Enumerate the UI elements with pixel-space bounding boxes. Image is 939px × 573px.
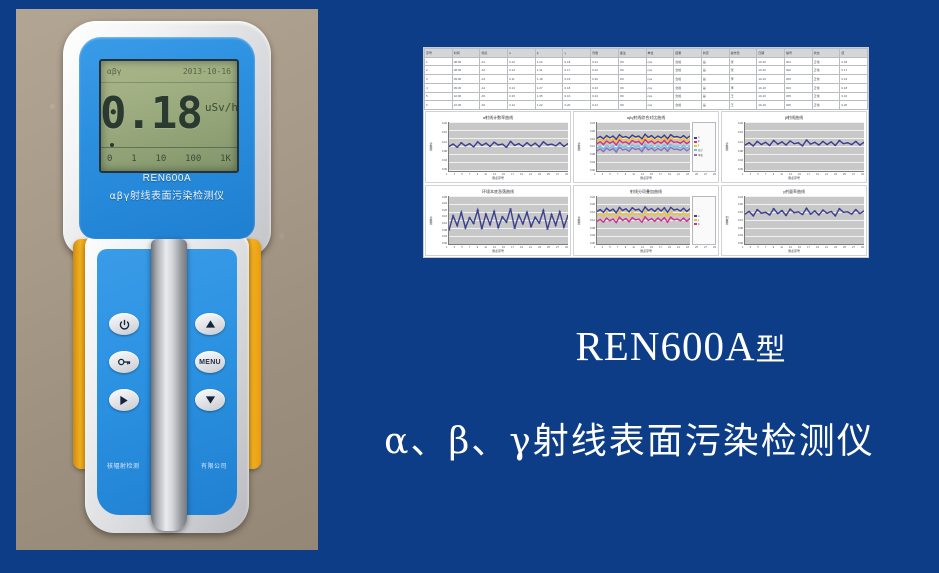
chart-y-tick: 0.00	[730, 242, 743, 245]
legend-label: β	[698, 223, 699, 226]
table-cell: A3	[480, 75, 508, 84]
product-model-text: REN600A	[575, 323, 755, 369]
table-cell: 李	[729, 75, 757, 84]
product-model-suffix: 型	[756, 333, 787, 368]
table-cell: 4	[425, 83, 453, 92]
table-cell: 0.19	[840, 75, 868, 84]
up-button[interactable]	[195, 313, 225, 335]
triangle-down-icon	[205, 395, 216, 405]
chart-y-tick: 0.04	[434, 159, 447, 162]
play-button[interactable]	[109, 389, 139, 411]
table-cell: 0.24	[591, 92, 619, 101]
table-cell: 09:00	[452, 75, 480, 84]
chart-body: 剂量率0.240.200.160.120.080.040.00	[722, 195, 866, 247]
table-cell: A5	[480, 92, 508, 101]
lcd-scale-tick: 100	[185, 154, 201, 164]
lcd-scale-tick: 0	[107, 154, 112, 164]
table-cell: cps	[646, 75, 674, 84]
chart-plot-area	[448, 196, 568, 246]
table-cell: 0.16	[563, 92, 591, 101]
table-cell: 0.22	[591, 66, 619, 75]
chart-y-ticks: 0.280.240.200.160.120.080.040.00	[434, 196, 448, 246]
chart-panel[interactable]: 环境本底涨落曲线计数率0.280.240.200.160.120.080.040…	[425, 185, 571, 257]
chart-panel[interactable]: 射线分项叠加曲线计数率0.240.200.160.120.080.040.00α…	[573, 185, 719, 257]
lcd-scale: 0 1 10 100 1K	[101, 147, 237, 169]
table-cell: A2	[480, 66, 508, 75]
table-header-cell: 判定	[701, 49, 729, 58]
chart-y-tick: 0.16	[582, 211, 595, 214]
menu-button[interactable]: MENU	[195, 351, 225, 373]
table-cell: 10-16	[757, 57, 785, 66]
table-cell: 0.21	[591, 101, 619, 110]
lcd-scale-tick: 1K	[220, 154, 231, 164]
table-cell: 0.17	[563, 66, 591, 75]
chart-y-tick: 0.16	[582, 138, 595, 141]
table-cell: 10-16	[757, 83, 785, 92]
table-cell: 005	[784, 92, 812, 101]
table-cell: A1	[480, 57, 508, 66]
lcd-mode-indicator: αβγ	[107, 67, 121, 76]
table-cell: 006	[784, 101, 812, 110]
table-header-cell: 序号	[425, 49, 453, 58]
table-cell: OK	[618, 57, 646, 66]
table-cell: 是	[701, 92, 729, 101]
device-footer-left: 核辐射检测	[107, 461, 140, 470]
key-icon	[118, 357, 131, 367]
chart-title: αβγ射线综合对比曲线	[574, 112, 718, 121]
chart-y-tick: 0.04	[730, 234, 743, 237]
table-cell: 0.16	[840, 92, 868, 101]
chart-y-tick: 0.12	[582, 219, 595, 222]
chart-y-tick: 0.00	[730, 168, 743, 171]
device-handle-strap	[151, 239, 187, 531]
lcd-unit: uSv/h	[205, 101, 238, 114]
chart-y-ticks: 0.240.200.160.120.080.040.00	[582, 122, 596, 172]
table-cell: 004	[784, 83, 812, 92]
chart-panel[interactable]: γ剂量率曲线剂量率0.240.200.160.120.080.040.00135…	[721, 185, 867, 257]
chart-y-ticks: 0.200.160.120.080.040.00	[730, 122, 744, 172]
chart-panel[interactable]: αβγ射线综合对比曲线计数率0.240.200.160.120.080.040.…	[573, 111, 719, 183]
table-cell: 合格	[674, 101, 702, 110]
chart-y-tick: 0.12	[434, 222, 447, 225]
chart-y-tick: 0.08	[582, 153, 595, 156]
chart-body: 计数率0.200.160.120.080.040.00	[426, 121, 570, 173]
table-cell: 08:00	[452, 57, 480, 66]
chart-panel[interactable]: β射线曲线计数率0.200.160.120.080.040.0013579111…	[721, 111, 867, 183]
table-cell: A6	[480, 101, 508, 110]
table-cell: OK	[618, 92, 646, 101]
chart-y-tick: 0.00	[434, 242, 447, 245]
legend-label: γ	[698, 219, 699, 222]
down-button[interactable]	[195, 389, 225, 411]
table-cell: 0.18	[563, 83, 591, 92]
chart-plot-area	[596, 196, 690, 246]
chart-legend: αβγ总计本底	[692, 122, 716, 172]
chart-y-tick: 0.20	[582, 203, 595, 206]
chart-y-tick: 0.08	[434, 229, 447, 232]
chart-y-tick: 0.12	[434, 141, 447, 144]
table-cell: 002	[784, 66, 812, 75]
table-row[interactable]: 610:30A60.121.220.200.21OKcps合格是王10-1600…	[425, 101, 868, 110]
chart-y-tick: 0.08	[582, 227, 595, 230]
table-cell: OK	[618, 75, 646, 84]
table-cell: 0.11	[508, 75, 536, 84]
table-header-cell: 状态	[812, 49, 840, 58]
table-cell: 1.24	[535, 57, 563, 66]
table-cell: 1.22	[535, 101, 563, 110]
table-cell: 2	[425, 66, 453, 75]
table-cell: A4	[480, 83, 508, 92]
table-cell: 09:30	[452, 83, 480, 92]
chart-y-tick: 0.16	[730, 211, 743, 214]
triangle-up-icon	[205, 319, 216, 329]
product-title-line1: REN600A型	[423, 322, 939, 370]
chart-legend-item: 总计	[694, 148, 714, 152]
chart-y-ticks: 0.200.160.120.080.040.00	[434, 122, 448, 172]
device-model-label: REN600A	[79, 173, 255, 184]
chart-legend: αγβ	[692, 196, 716, 246]
chart-y-ticks: 0.240.200.160.120.080.040.00	[582, 196, 596, 246]
table-cell: 0.12	[508, 57, 536, 66]
table-cell: 合格	[674, 92, 702, 101]
table-cell: 正常	[812, 92, 840, 101]
table-cell: 003	[784, 75, 812, 84]
table-cell: 0.14	[508, 66, 536, 75]
chart-y-tick: 0.04	[582, 161, 595, 164]
chart-y-tick: 0.08	[730, 227, 743, 230]
table-cell: 王	[729, 92, 757, 101]
chart-title: γ剂量率曲线	[722, 186, 866, 195]
table-cell: 是	[701, 66, 729, 75]
lcd-scale-tick: 1	[131, 154, 136, 164]
table-cell: 0.18	[840, 83, 868, 92]
table-row[interactable]: 108:00A10.121.240.180.21OKcps合格是张10-1600…	[425, 57, 868, 66]
chart-panel[interactable]: α射线计数率曲线计数率0.200.160.120.080.040.0013579…	[425, 111, 571, 183]
lcd-status-bar: αβγ 2013-10-16	[101, 61, 237, 83]
chart-y-tick: 0.20	[730, 122, 743, 125]
table-cell: 0.19	[563, 75, 591, 84]
chart-title: 环境本底涨落曲线	[426, 186, 570, 195]
table-cell: 正常	[812, 75, 840, 84]
chart-y-tick: 0.20	[582, 130, 595, 133]
table-cell: 001	[784, 57, 812, 66]
chart-panel-grid: α射线计数率曲线计数率0.200.160.120.080.040.0013579…	[424, 110, 868, 257]
table-cell: 合格	[674, 66, 702, 75]
chart-y-tick: 0.12	[730, 219, 743, 222]
table-header-cell: 编号	[784, 49, 812, 58]
chart-plot-area	[744, 196, 864, 246]
chart-y-tick: 0.16	[730, 131, 743, 134]
table-cell: 0.21	[591, 57, 619, 66]
legend-label: α	[698, 215, 699, 218]
table-header-cell: 备注	[618, 49, 646, 58]
chart-plot-area	[744, 122, 864, 172]
lcd-value: 0.18	[100, 92, 202, 136]
table-cell: 0.23	[591, 83, 619, 92]
table-header-cell: 单位	[646, 49, 674, 58]
table-header-cell: 操作员	[729, 49, 757, 58]
table-cell: 是	[701, 83, 729, 92]
product-photo: αβγ 2013-10-16 0.18 uSv/h 0 1 10 100 1K …	[16, 9, 318, 550]
triangle-right-icon	[119, 395, 129, 406]
device-model-sublabel: αβγ射线表面污染检测仪	[79, 187, 255, 202]
table-cell: 0.20	[591, 75, 619, 84]
chart-legend-item: γ	[694, 144, 714, 147]
chart-y-tick: 0.28	[434, 196, 447, 199]
table-body: 序号时间测点αβγ剂量备注单位结果判定操作员日期编号状态值108:00A10.1…	[425, 49, 868, 110]
table-header-cell: 日期	[757, 49, 785, 58]
chart-x-axis-label: 测点序号	[426, 249, 570, 255]
table-cell: OK	[618, 101, 646, 110]
table-cell: 10-16	[757, 75, 785, 84]
chart-x-axis-label: 测点序号	[574, 176, 718, 182]
table-cell: 0.18	[840, 57, 868, 66]
table-cell: 王	[729, 101, 757, 110]
chart-y-tick: 0.04	[582, 234, 595, 237]
chart-x-axis-label: 测点序号	[574, 249, 718, 255]
table-cell: cps	[646, 92, 674, 101]
table-cell: 是	[701, 101, 729, 110]
table-cell: OK	[618, 66, 646, 75]
chart-body: 计数率0.240.200.160.120.080.040.00αβγ总计本底	[574, 121, 718, 173]
chart-y-tick: 0.04	[730, 159, 743, 162]
chart-y-ticks: 0.240.200.160.120.080.040.00	[730, 196, 744, 246]
chart-y-tick: 0.24	[582, 196, 595, 199]
chart-plot-area	[596, 122, 690, 172]
legend-swatch	[694, 154, 697, 156]
chart-y-tick: 0.20	[730, 203, 743, 206]
table-header-cell: γ	[563, 49, 591, 58]
table-cell: cps	[646, 57, 674, 66]
lcd-reading-area: 0.18 uSv/h	[101, 85, 237, 143]
chart-y-tick: 0.20	[434, 209, 447, 212]
software-dashboard-screenshot: 序号时间测点αβγ剂量备注单位结果判定操作员日期编号状态值108:00A10.1…	[423, 47, 869, 258]
table-cell: 0.13	[508, 83, 536, 92]
table-cell: 是	[701, 57, 729, 66]
legend-swatch	[694, 223, 697, 225]
legend-label: 总计	[698, 148, 703, 152]
chart-y-tick: 0.04	[434, 235, 447, 238]
table-row[interactable]: 309:00A30.111.180.190.20OKcps合格是李10-1600…	[425, 75, 868, 84]
table-cell: 李	[729, 83, 757, 92]
table-cell: 1	[425, 57, 453, 66]
table-cell: OK	[618, 83, 646, 92]
table-cell: 5	[425, 92, 453, 101]
table-cell: 0.20	[840, 101, 868, 110]
chart-legend-item: β	[694, 140, 714, 143]
table-cell: 10-16	[757, 101, 785, 110]
table-cell: 6	[425, 101, 453, 110]
chart-y-tick: 0.12	[582, 145, 595, 148]
chart-y-tick: 0.20	[434, 122, 447, 125]
handheld-detector-device: αβγ 2013-10-16 0.18 uSv/h 0 1 10 100 1K …	[47, 21, 287, 533]
table-cell: 0.17	[840, 66, 868, 75]
chart-legend-item: β	[694, 223, 714, 226]
chart-title: α射线计数率曲线	[426, 112, 570, 121]
chart-legend-item: α	[694, 215, 714, 218]
power-button[interactable]	[109, 313, 139, 335]
chart-y-tick: 0.16	[434, 131, 447, 134]
table-cell: cps	[646, 66, 674, 75]
chart-x-axis-label: 测点序号	[722, 249, 866, 255]
table-cell: 张	[729, 66, 757, 75]
table-cell: 1.35	[535, 92, 563, 101]
table-cell: 正常	[812, 66, 840, 75]
chart-plot-area	[448, 122, 568, 172]
table-header-cell: 时间	[452, 49, 480, 58]
chart-body: 计数率0.240.200.160.120.080.040.00αγβ	[574, 195, 718, 247]
chart-title: 射线分项叠加曲线	[574, 186, 718, 195]
chart-y-tick: 0.00	[582, 169, 595, 172]
table-row[interactable]: 510:00A50.151.350.160.24OKcps合格是王10-1600…	[425, 92, 868, 101]
device-footer-right: 有限公司	[201, 461, 227, 470]
table-header-cell: α	[508, 49, 536, 58]
table-cell: 张	[729, 57, 757, 66]
chart-y-tick: 0.24	[730, 196, 743, 199]
table-header-cell: 剂量	[591, 49, 619, 58]
table-header-cell: 结果	[674, 49, 702, 58]
chart-y-tick: 0.08	[434, 150, 447, 153]
chart-y-tick: 0.24	[434, 202, 447, 205]
chart-legend-item: γ	[694, 219, 714, 222]
power-icon	[119, 319, 130, 330]
legend-swatch	[694, 149, 697, 151]
table-cell: 10-16	[757, 92, 785, 101]
chart-x-axis-label: 测点序号	[426, 176, 570, 182]
table-cell: 0.12	[508, 101, 536, 110]
chart-y-tick: 0.00	[582, 242, 595, 245]
table-cell: 合格	[674, 83, 702, 92]
legend-label: β	[698, 140, 699, 143]
legend-swatch	[694, 219, 697, 221]
legend-label: 本底	[698, 153, 703, 157]
legend-swatch	[694, 215, 697, 217]
table-cell: 08:30	[452, 66, 480, 75]
table-cell: 正常	[812, 101, 840, 110]
chart-y-tick: 0.16	[434, 215, 447, 218]
table-cell: 10-16	[757, 66, 785, 75]
table-cell: 正常	[812, 57, 840, 66]
chart-x-axis-label: 测点序号	[722, 176, 866, 182]
table-header-cell: 测点	[480, 49, 508, 58]
table-cell: cps	[646, 101, 674, 110]
legend-label: α	[698, 136, 699, 139]
chart-y-tick: 0.08	[730, 150, 743, 153]
table-cell: 正常	[812, 83, 840, 92]
legend-swatch	[694, 145, 697, 147]
table-cell: 10:30	[452, 101, 480, 110]
chart-legend-item: α	[694, 136, 714, 139]
chart-y-tick: 0.24	[582, 122, 595, 125]
measurement-data-table: 序号时间测点αβγ剂量备注单位结果判定操作员日期编号状态值108:00A10.1…	[424, 48, 868, 110]
table-cell: 1.27	[535, 83, 563, 92]
chart-y-tick: 0.00	[434, 168, 447, 171]
slide-root: αβγ 2013-10-16 0.18 uSv/h 0 1 10 100 1K …	[0, 0, 939, 573]
menu-button-label: MENU	[199, 359, 221, 366]
table-header-row: 序号时间测点αβγ剂量备注单位结果判定操作员日期编号状态值	[425, 49, 868, 58]
legend-label: γ	[698, 144, 699, 147]
table-cell: 10:00	[452, 92, 480, 101]
chart-body: 计数率0.200.160.120.080.040.00	[722, 121, 866, 173]
lcd-scale-tick: 10	[155, 154, 166, 164]
chart-y-tick: 0.12	[730, 141, 743, 144]
table-cell: 是	[701, 75, 729, 84]
product-title-line2: α、β、γ射线表面污染检测仪	[320, 412, 939, 464]
table-cell: 合格	[674, 57, 702, 66]
chart-legend-item: 本底	[694, 153, 714, 157]
table-cell: 0.20	[563, 101, 591, 110]
table-row[interactable]: 208:30A20.141.310.170.22OKcps合格是张10-1600…	[425, 66, 868, 75]
table-cell: cps	[646, 83, 674, 92]
table-cell: 1.18	[535, 75, 563, 84]
lcd-screen: αβγ 2013-10-16 0.18 uSv/h 0 1 10 100 1K	[99, 59, 239, 173]
table-cell: 0.18	[563, 57, 591, 66]
table-header-cell: 值	[840, 49, 868, 58]
legend-swatch	[694, 141, 697, 143]
chart-body: 计数率0.280.240.200.160.120.080.040.00	[426, 195, 570, 247]
table-cell: 合格	[674, 75, 702, 84]
table-row[interactable]: 409:30A40.131.270.180.23OKcps合格是李10-1600…	[425, 83, 868, 92]
search-button[interactable]	[109, 351, 139, 373]
table-cell: 3	[425, 75, 453, 84]
lcd-date-indicator: 2013-10-16	[183, 67, 231, 76]
table-cell: 0.15	[508, 92, 536, 101]
table-cell: 1.31	[535, 66, 563, 75]
legend-swatch	[694, 137, 697, 139]
chart-title: β射线曲线	[722, 112, 866, 121]
table-header-cell: β	[535, 49, 563, 58]
